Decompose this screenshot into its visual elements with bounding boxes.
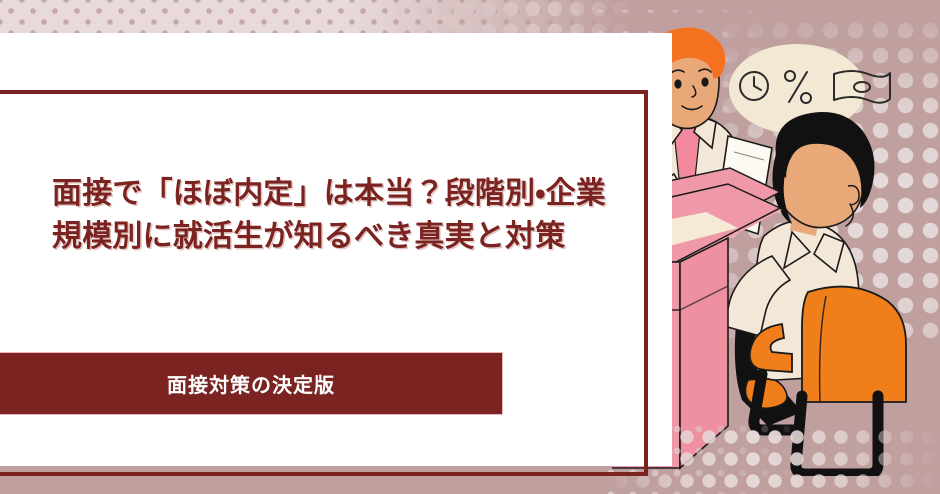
- card-border-frame: [0, 90, 648, 476]
- sub-banner: 面接対策の決定版: [0, 352, 503, 415]
- eyecatch-banner: 面接で「ほぼ内定」は本当？段階別・企業規模別に就活生が知るべき真実と対策 面接対…: [0, 0, 940, 494]
- halftone-pattern-top-large: [390, 0, 640, 34]
- page-title: 面接で「ほぼ内定」は本当？段階別・企業規模別に就活生が知るべき真実と対策: [52, 173, 612, 258]
- sub-banner-label: 面接対策の決定版: [167, 369, 335, 398]
